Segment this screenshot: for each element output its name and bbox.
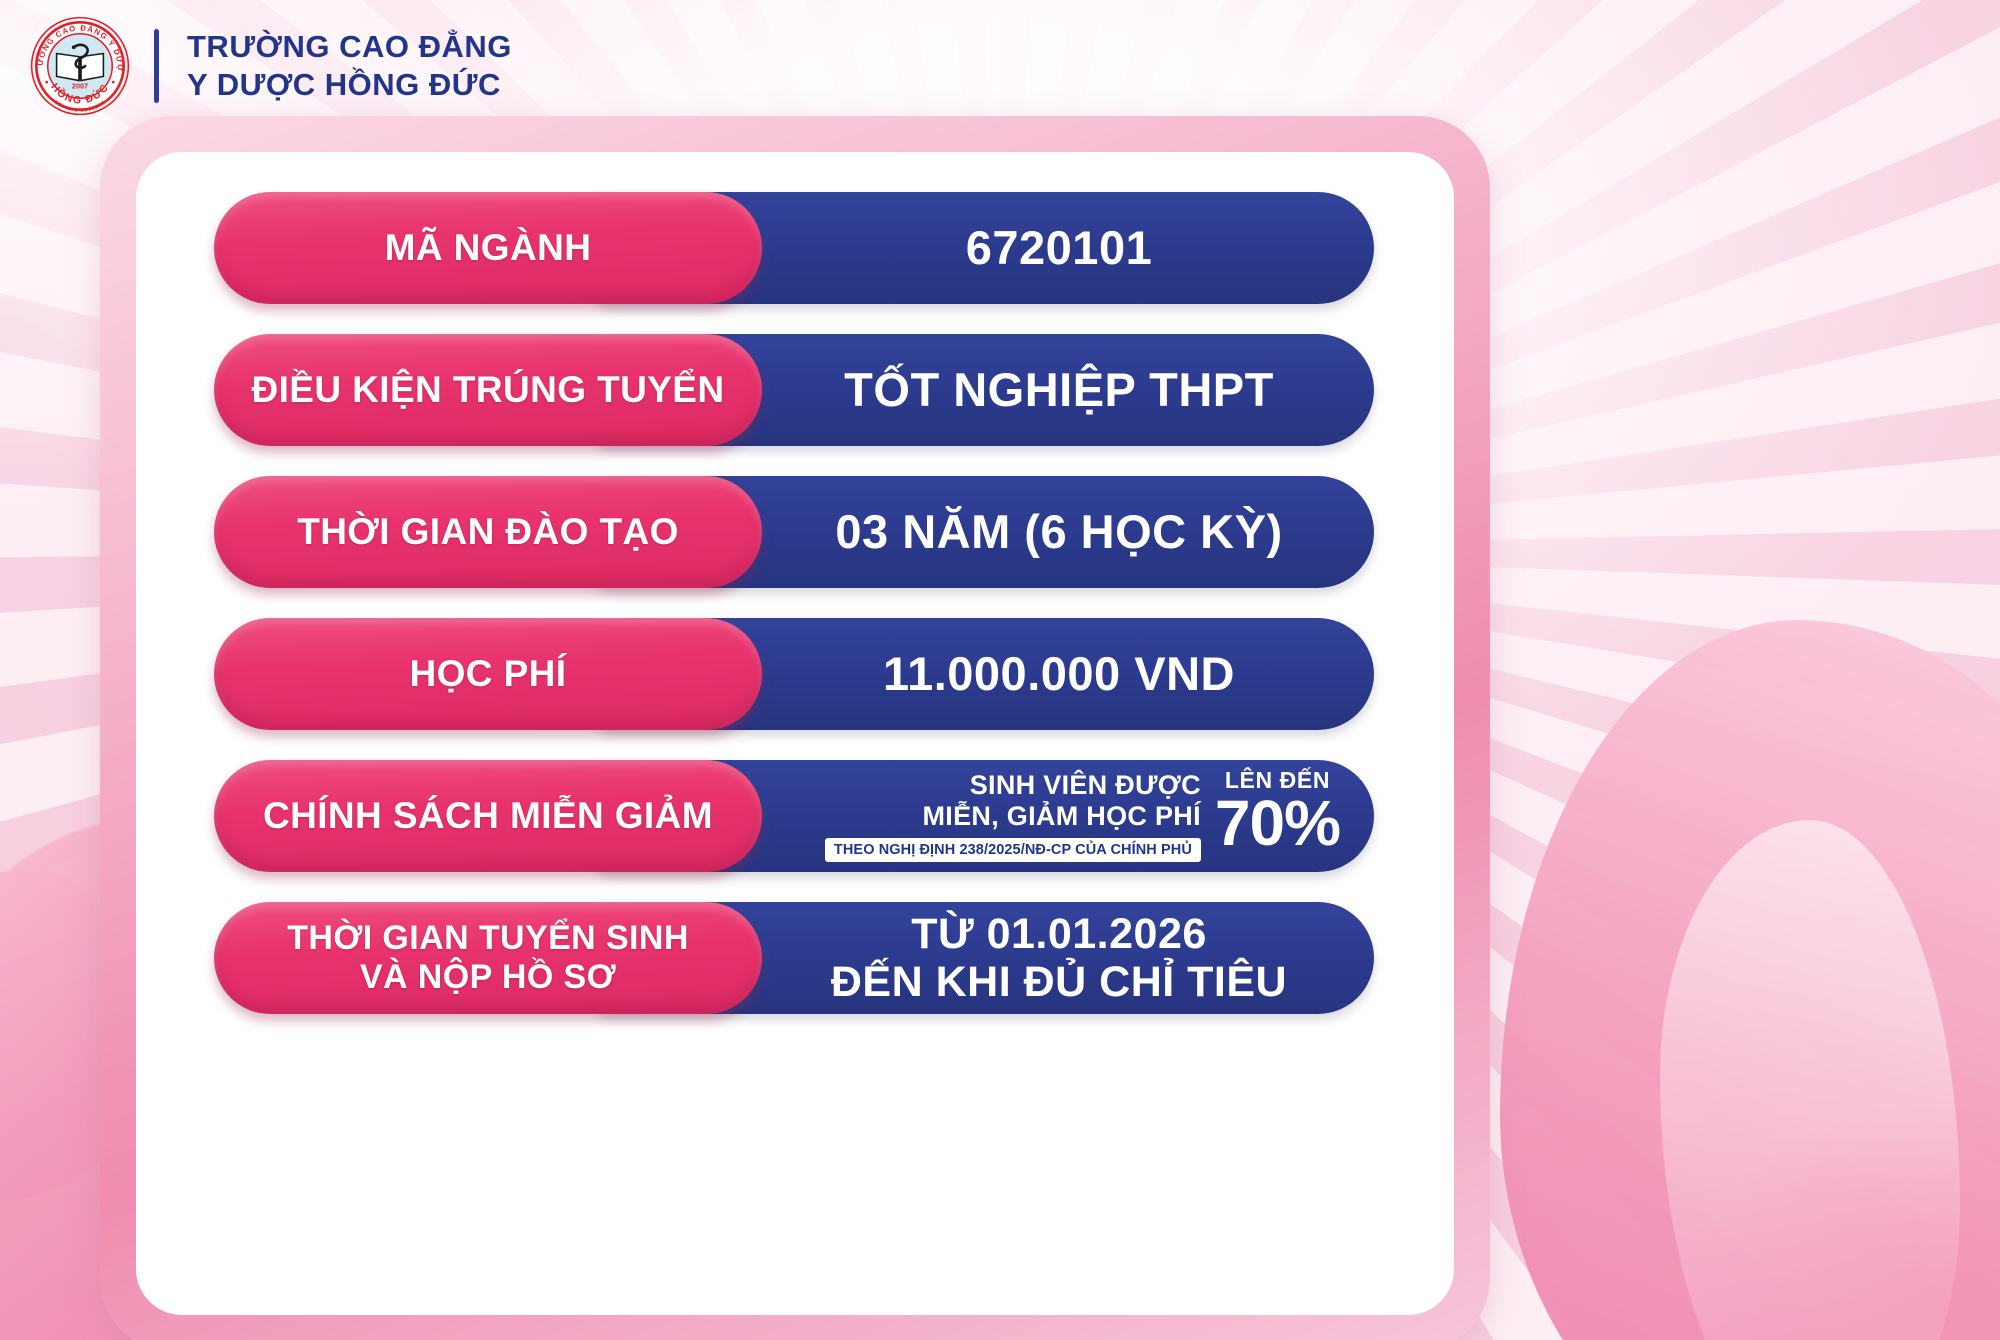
row-value: 6720101 [816,223,1152,274]
college-seal-logo-icon: TRƯỜNG CAO ĐẲNG Y DƯỢC HỒNG ĐỨC MEDICAL … [28,14,132,118]
header-divider [154,29,159,103]
row-value: 11.000.000 VND [733,649,1235,700]
svg-text:2007: 2007 [72,81,88,90]
brand-title-line1: TRƯỜNG CAO ĐẲNG [187,28,512,66]
row-value-line2: ĐẾN KHI ĐỦ CHỈ TIÊU [831,958,1287,1006]
row-label: CHÍNH SÁCH MIỄN GIẢM [263,795,713,838]
brand-title: TRƯỜNG CAO ĐẲNG Y DƯỢC HỒNG ĐỨC [187,28,512,104]
discount-description: SINH VIÊN ĐƯỢC MIỄN, GIẢM HỌC PHÍ THEO N… [825,770,1201,862]
row-label: MÃ NGÀNH [385,227,592,270]
table-row: 11.000.000 VND HỌC PHÍ [214,618,1374,730]
table-row: 03 NĂM (6 HỌC KỲ) THỜI GIAN ĐÀO TẠO [214,476,1374,588]
table-row: TỪ 01.01.2026 ĐẾN KHI ĐỦ CHỈ TIÊU THỜI G… [214,902,1374,1014]
row-label-line2: VÀ NỘP HỒ SƠ [287,958,689,997]
row-label-line1: THỜI GIAN TUYỂN SINH [287,919,689,958]
row-label: ĐIỀU KIỆN TRÚNG TUYỂN [252,369,725,412]
row-label-pill: CHÍNH SÁCH MIỄN GIẢM [214,760,762,872]
discount-percent-value: 70% [1215,794,1340,853]
row-label-pill: HỌC PHÍ [214,618,762,730]
row-value-line1: TỪ 01.01.2026 [831,910,1287,958]
row-label: THỜI GIAN TUYỂN SINH VÀ NỘP HỒ SƠ [287,919,689,998]
row-label-pill: MÃ NGÀNH [214,192,762,304]
row-value: 03 NĂM (6 HỌC KỲ) [685,507,1282,558]
table-row: 6720101 MÃ NGÀNH [214,192,1374,304]
row-label-pill: THỜI GIAN ĐÀO TẠO [214,476,762,588]
row-label-pill: ĐIỀU KIỆN TRÚNG TUYỂN [214,334,762,446]
admission-info-table: 6720101 MÃ NGÀNH TỐT NGHIỆP THPT ĐIỀU KI… [214,192,1374,1014]
row-value: TỐT NGHIỆP THPT [694,365,1274,416]
discount-line-2: MIỄN, GIẢM HỌC PHÍ [923,801,1201,831]
brand-title-line2: Y DƯỢC HỒNG ĐỨC [187,66,512,104]
discount-percent-block: LÊN ĐẾN 70% [1215,769,1340,853]
brand-header: TRƯỜNG CAO ĐẲNG Y DƯỢC HỒNG ĐỨC MEDICAL … [28,14,512,118]
background-corner-glow-bottomright [1680,1100,2000,1340]
discount-line-1: SINH VIÊN ĐƯỢC [970,770,1201,800]
table-row: TỐT NGHIỆP THPT ĐIỀU KIỆN TRÚNG TUYỂN [214,334,1374,446]
row-label: THỜI GIAN ĐÀO TẠO [297,511,679,554]
row-label: HỌC PHÍ [410,653,567,696]
decree-reference-note: THEO NGHỊ ĐỊNH 238/2025/NĐ-CP CỦA CHÍNH … [825,838,1201,862]
row-value: TỪ 01.01.2026 ĐẾN KHI ĐỦ CHỈ TIÊU [681,910,1287,1006]
table-row-discount-policy: SINH VIÊN ĐƯỢC MIỄN, GIẢM HỌC PHÍ THEO N… [214,760,1374,872]
row-label-pill: THỜI GIAN TUYỂN SINH VÀ NỘP HỒ SƠ [214,902,762,1014]
